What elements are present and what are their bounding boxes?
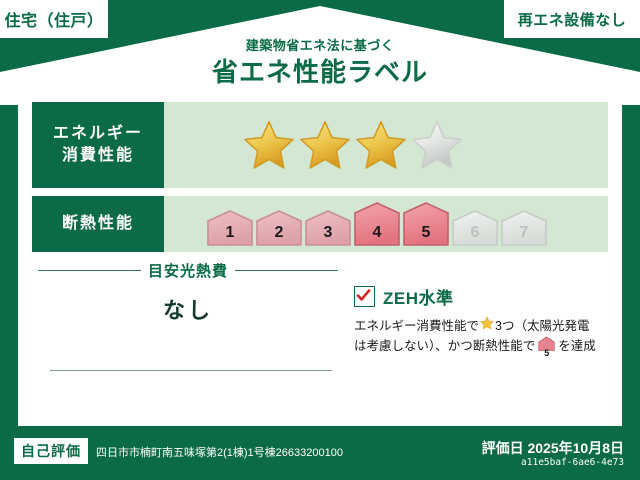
star-icon-filled — [242, 119, 296, 171]
page-title: 省エネ性能ラベル — [0, 56, 640, 89]
zeh-line1-text-a: エネルギー消費性能で — [354, 317, 479, 336]
footer: 自己評価 四日市市楠町南五味塚第2(1棟)1号棟26633200100 評価日 … — [0, 426, 640, 480]
energy-performance-value — [164, 102, 608, 188]
rule-left — [38, 270, 141, 271]
rule-right — [235, 270, 338, 271]
zeh-checkbox[interactable] — [354, 286, 375, 307]
insulation-performance-label-key: 断熱性能 — [32, 196, 164, 252]
house-icon-inline-number: 5 — [538, 349, 555, 358]
title-subtitle: 建築物省エネ法に基づく — [0, 38, 640, 55]
star-icon-empty — [410, 119, 464, 171]
badge-renewable-energy-label: 再エネ設備なし — [518, 9, 627, 30]
insulation-level-number: 3 — [304, 224, 352, 242]
check-icon — [356, 288, 371, 303]
insulation-level-1: 1 — [206, 209, 254, 247]
insulation-performance-row: 断熱性能 1234567 — [32, 196, 608, 252]
insulation-level-2: 2 — [255, 209, 303, 247]
insulation-level-6: 6 — [451, 209, 499, 247]
insulation-level-number: 6 — [451, 224, 499, 242]
insulation-label: 断熱性能 — [62, 213, 134, 235]
energy-label-line1: エネルギー — [53, 123, 143, 145]
star-icon-filled — [298, 119, 352, 171]
zeh-header: ZEH水準 — [354, 284, 626, 309]
insulation-level-5: 5 — [402, 201, 450, 247]
energy-performance-label-key: エネルギー 消費性能 — [32, 102, 164, 188]
zeh-line1-text-b: 3つ（太陽光発電 — [495, 317, 589, 336]
insulation-level-number: 2 — [255, 224, 303, 242]
zeh-line2-text-b: を達成 — [558, 337, 596, 356]
badge-building-type: 住宅（住戸） — [0, 0, 108, 38]
zeh-title: ZEH水準 — [383, 284, 454, 309]
evaluation-date: 評価日 2025年10月8日 — [482, 438, 624, 458]
estimated-cost-title: 目安光熱費 — [148, 260, 228, 281]
insulation-level-number: 5 — [402, 224, 450, 242]
zeh-description-line1: エネルギー消費性能で 3つ（太陽光発電 — [354, 316, 626, 336]
star-icon-inline — [480, 316, 494, 336]
star-icon-filled — [354, 119, 408, 171]
house-icon-inline: 5 — [538, 336, 555, 357]
estimated-cost-divider — [50, 370, 332, 371]
insulation-level-scale: 1234567 — [164, 201, 549, 247]
title-block: 建築物省エネ法に基づく 省エネ性能ラベル — [0, 38, 640, 88]
self-evaluation-badge: 自己評価 — [14, 438, 88, 464]
badge-renewable-energy: 再エネ設備なし — [504, 0, 640, 38]
badge-building-type-label: 住宅（住戸） — [4, 7, 103, 31]
energy-label-line2: 消費性能 — [62, 145, 134, 167]
energy-performance-label: 住宅（住戸） 再エネ設備なし 建築物省エネ法に基づく 省エネ性能ラベル エネルギ… — [0, 0, 640, 480]
insulation-level-3: 3 — [304, 209, 352, 247]
property-address: 四日市市楠町南五味塚第2(1棟)1号棟26633200100 — [96, 444, 343, 460]
estimated-cost-value: なし — [38, 293, 338, 325]
insulation-level-number: 7 — [500, 224, 548, 242]
insulation-level-7: 7 — [500, 209, 548, 247]
zeh-section: ZEH水準 エネルギー消費性能で 3つ（太陽光発電 は考慮しない）、かつ断熱性能… — [354, 284, 626, 358]
energy-performance-row: エネルギー 消費性能 — [32, 102, 608, 188]
label-card: エネルギー 消費性能 断熱性能 1234567 目安光熱費 なし — [18, 88, 622, 426]
zeh-line2-text-a: は考慮しない）、かつ断熱性能で — [354, 337, 535, 356]
insulation-level-number: 4 — [353, 224, 401, 242]
star-rating — [164, 119, 464, 171]
evaluation-id: a11e5baf-6ae6-4e73 — [521, 457, 624, 468]
zeh-description-line2: は考慮しない）、かつ断熱性能で 5 を達成 — [354, 336, 626, 357]
insulation-performance-value: 1234567 — [164, 196, 608, 252]
insulation-level-4: 4 — [353, 201, 401, 247]
estimated-cost-header: 目安光熱費 — [38, 260, 338, 281]
insulation-level-number: 1 — [206, 224, 254, 242]
